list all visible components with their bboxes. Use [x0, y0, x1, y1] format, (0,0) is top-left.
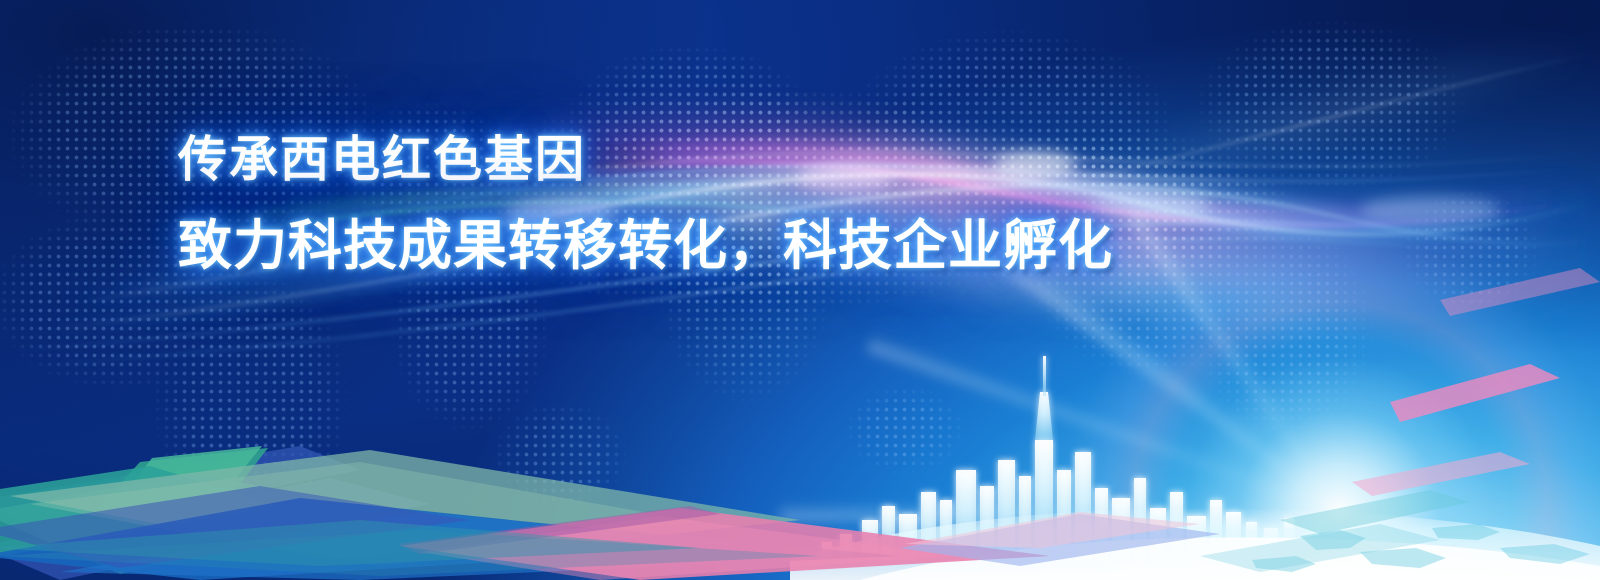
banner-hero: 传承西电红色基因 致力科技成果转移转化，科技企业孵化: [0, 0, 1600, 580]
sun-burst-rays-icon: [0, 0, 1600, 580]
background-vignette: [0, 0, 1600, 580]
city-skyline-icon: [0, 0, 1600, 580]
sun-burst-core-icon: [0, 0, 1600, 580]
headline-line-1: 传承西电红色基因: [178, 134, 1378, 187]
dotted-world-map-highlight-icon: [0, 0, 1600, 580]
headline-line-2: 致力科技成果转移转化，科技企业孵化: [178, 217, 1378, 275]
background-gradient: [0, 0, 1600, 580]
light-ribbons-icon: [0, 0, 1600, 580]
sun-burst-halo-icon: [0, 0, 1600, 580]
dotted-world-map-icon: [0, 0, 1600, 580]
headline-block: 传承西电红色基因 致力科技成果转移转化，科技企业孵化: [178, 134, 1378, 275]
geometric-polygons-icon: [0, 0, 1600, 580]
